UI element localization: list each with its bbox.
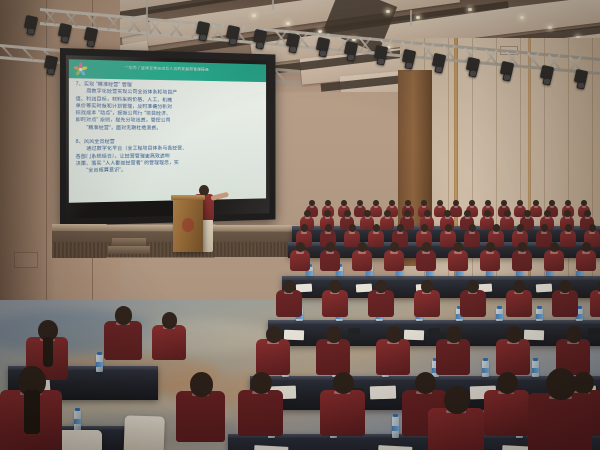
attendee-ponytail xyxy=(24,390,39,434)
stage-light xyxy=(253,30,267,50)
attendee-head xyxy=(559,280,571,293)
notepad xyxy=(378,445,413,450)
attendee-head xyxy=(390,242,399,252)
attendee-head xyxy=(325,200,330,206)
attendee xyxy=(480,242,500,271)
attendee xyxy=(256,326,290,375)
attendee-head xyxy=(484,210,491,217)
attendee-head xyxy=(581,200,586,206)
bottle-cap xyxy=(75,408,80,411)
attendee-head xyxy=(397,224,405,232)
attendee xyxy=(528,368,592,450)
attendee-head xyxy=(485,200,490,206)
attendee-head xyxy=(524,210,531,217)
slide-header-title: 一切为了篮球全体运动员人员的发展和管理提高 xyxy=(125,66,263,73)
attendee-head xyxy=(453,200,458,206)
attendee-head xyxy=(421,224,429,232)
attendee-head xyxy=(386,326,402,343)
attendee-shirt xyxy=(428,408,484,450)
bottle-label xyxy=(536,314,543,319)
attendee xyxy=(320,242,340,271)
stage-light xyxy=(286,34,300,54)
attendee-head xyxy=(437,200,442,206)
attendee-head xyxy=(329,280,341,293)
attendee-head xyxy=(389,200,394,206)
attendee-head xyxy=(565,200,570,206)
attendee xyxy=(416,242,436,271)
attendee xyxy=(322,280,348,317)
bottle-cap xyxy=(533,358,538,361)
attendee-head xyxy=(454,242,463,252)
attendee xyxy=(376,326,410,375)
attendee-head xyxy=(518,242,527,252)
attendee xyxy=(512,242,532,271)
attendee-head xyxy=(301,224,309,232)
attendee-head xyxy=(533,200,538,206)
attendee xyxy=(428,386,484,450)
attendee xyxy=(544,242,564,271)
attendee-head xyxy=(115,306,133,325)
truss-drop-rod xyxy=(146,0,148,40)
attendee xyxy=(484,372,529,436)
attendee-head xyxy=(296,242,305,252)
attendee-head xyxy=(546,368,576,400)
attendee-head xyxy=(504,210,511,217)
stage-light xyxy=(374,46,388,66)
attendee-head xyxy=(405,200,410,206)
notepad xyxy=(370,386,396,400)
bottle-label xyxy=(396,271,403,276)
bottle-label xyxy=(392,426,399,431)
attendee xyxy=(152,312,186,360)
attendee xyxy=(238,372,283,436)
attendee-head xyxy=(464,210,471,217)
attendee-head xyxy=(266,326,282,343)
attendee-head xyxy=(358,242,367,252)
bottle-label xyxy=(456,271,463,276)
stage-light xyxy=(432,54,446,74)
bottle-cap xyxy=(393,414,398,417)
conference-hall-photo: 一切为了篮球全体运动员人员的发展和管理提高 7、实现 "精准经营" 管理用数字化… xyxy=(0,0,600,450)
stage-light-glass xyxy=(257,43,263,48)
attendee-head xyxy=(517,200,522,206)
attendee-head xyxy=(162,312,178,329)
attendee-head xyxy=(446,326,462,343)
audience-area xyxy=(0,180,600,450)
attendee-head xyxy=(469,224,477,232)
attendee-head xyxy=(564,210,571,217)
stage-light-glass xyxy=(406,63,412,68)
stage-light-glass xyxy=(504,75,510,80)
bottle-cap xyxy=(483,358,488,361)
bottle-label xyxy=(96,362,103,367)
chair xyxy=(123,415,165,450)
bottle-label xyxy=(366,271,373,276)
slide-body-line: "全员核算意识"。 xyxy=(76,166,261,175)
attendee-head xyxy=(324,210,331,217)
attendee-head xyxy=(304,210,311,217)
bottle-label xyxy=(486,271,493,276)
attendee-head xyxy=(384,210,391,217)
attendee xyxy=(290,242,310,271)
bottle-label xyxy=(426,271,433,276)
bottle-label xyxy=(306,271,313,276)
stage-light-glass xyxy=(348,55,354,60)
attendee-head xyxy=(341,200,346,206)
stage-light-glass xyxy=(470,71,476,76)
notepad xyxy=(254,445,289,450)
bottle-cap xyxy=(97,352,102,355)
notepad xyxy=(536,284,552,293)
attendee-shirt xyxy=(104,321,142,360)
attendee-head xyxy=(501,200,506,206)
attendee-shirt xyxy=(552,290,578,317)
attendee-head xyxy=(517,224,525,232)
attendee-head xyxy=(251,372,272,394)
attendee xyxy=(316,326,350,375)
attendee-head xyxy=(486,242,495,252)
attendee-head xyxy=(349,224,357,232)
truss-drop-rod xyxy=(410,10,412,26)
attendee xyxy=(590,280,600,317)
attendee-head xyxy=(326,326,342,343)
attendee-head xyxy=(333,372,354,394)
stage-light xyxy=(402,50,416,70)
attendee xyxy=(352,242,372,271)
stage-light xyxy=(344,42,358,62)
bottle-label xyxy=(546,271,553,276)
attendee-shirt xyxy=(276,290,302,317)
stage-light xyxy=(226,26,240,46)
pinwheel-flower-logo xyxy=(73,61,89,77)
bottle-label xyxy=(336,271,343,276)
bottle-label xyxy=(496,314,503,319)
attendee-head xyxy=(513,280,525,293)
truss-drop-rod xyxy=(272,0,274,10)
attendee xyxy=(320,372,365,436)
bottle-cap xyxy=(537,306,542,309)
stage-light xyxy=(466,58,480,78)
slide-header-band: 一切为了篮球全体运动员人员的发展和管理提高 xyxy=(69,59,266,82)
water-bottle xyxy=(74,410,81,431)
attendee-shirt xyxy=(414,290,440,317)
attendee-shirt xyxy=(176,391,225,442)
attendee-head xyxy=(550,242,559,252)
attendee-shirt xyxy=(152,325,186,360)
stage-light-glass xyxy=(544,79,550,84)
bottle-cap xyxy=(577,306,582,309)
attendee-shirt xyxy=(436,339,470,374)
attendee xyxy=(436,326,470,375)
attendee-head xyxy=(344,210,351,217)
attendee-head xyxy=(566,326,582,343)
bottle-label xyxy=(516,271,523,276)
attendee-head xyxy=(565,224,573,232)
stage-light-glass xyxy=(436,67,442,72)
attendee-shirt xyxy=(496,339,530,374)
attendee-head xyxy=(325,224,333,232)
attendee-shirt xyxy=(460,290,486,317)
stage-light-glass xyxy=(230,39,236,44)
water-bottle xyxy=(392,416,399,438)
water-bottle xyxy=(96,354,103,372)
stage-light xyxy=(58,24,72,44)
bottle-label xyxy=(74,419,81,424)
attendee-head xyxy=(283,280,295,293)
attendee xyxy=(368,280,394,317)
slide-body-text: 7、实现 "精准经营" 管理用数字化经营实现公司全员体系和项目产值、利润目标，材… xyxy=(76,81,261,175)
attendee-shirt xyxy=(316,339,350,374)
attendee-shirt xyxy=(368,290,394,317)
attendee-head xyxy=(424,210,431,217)
attendee-shirt xyxy=(376,339,410,374)
attendee-shirt xyxy=(322,290,348,317)
attendee xyxy=(276,280,302,317)
attendee-shirt xyxy=(506,290,532,317)
attendee xyxy=(176,372,225,442)
attendee-head xyxy=(549,200,554,206)
bottle-cap xyxy=(497,306,502,309)
attendee-head xyxy=(582,242,591,252)
attendee-head xyxy=(190,372,213,397)
stage-light-glass xyxy=(48,69,54,74)
stage-light-glass xyxy=(290,47,296,52)
table-top-surface xyxy=(268,320,600,324)
attendee-shirt xyxy=(320,390,365,436)
attendee-shirt xyxy=(528,393,592,450)
attendee-head xyxy=(444,386,470,414)
stage-light xyxy=(24,16,38,36)
stage-light-glass xyxy=(578,83,584,88)
attendee-head xyxy=(373,200,378,206)
attendee-head xyxy=(584,210,591,217)
attendee xyxy=(460,280,486,317)
attendee-head xyxy=(544,210,551,217)
attendee-head xyxy=(497,372,518,394)
attendee-head xyxy=(493,224,501,232)
stage-light xyxy=(84,28,98,48)
attendee-head xyxy=(444,210,451,217)
attendee-shirt xyxy=(590,290,600,317)
attendee xyxy=(496,326,530,375)
attendee-head xyxy=(445,224,453,232)
attendee xyxy=(104,306,142,360)
attendee-head xyxy=(506,326,522,343)
attendee xyxy=(576,242,596,271)
bottle-label xyxy=(576,271,583,276)
attendee xyxy=(384,242,404,271)
stage-light xyxy=(44,56,58,76)
attendee-head xyxy=(375,280,387,293)
attendee-shirt xyxy=(256,339,290,374)
attendee xyxy=(0,366,62,450)
attendee-head xyxy=(326,242,335,252)
stage-light-glass xyxy=(88,41,94,46)
attendee-shirt xyxy=(484,390,529,436)
attendee-head xyxy=(541,224,549,232)
attendee-head xyxy=(357,200,362,206)
water-bottle xyxy=(496,308,503,321)
attendee-head xyxy=(309,200,314,206)
attendee-head xyxy=(421,200,426,206)
attendee-ponytail xyxy=(43,337,54,367)
attendee-head xyxy=(589,224,597,232)
attendee-head xyxy=(469,200,474,206)
attendee-head xyxy=(364,210,371,217)
stage-light xyxy=(196,22,210,42)
stage-light-glass xyxy=(200,35,206,40)
stage-light-glass xyxy=(62,37,68,42)
stage-light-glass xyxy=(320,51,326,56)
water-bottle xyxy=(536,308,543,321)
chair xyxy=(56,430,102,450)
attendee xyxy=(552,280,578,317)
attendee-head xyxy=(467,280,479,293)
attendee xyxy=(448,242,468,271)
attendee xyxy=(414,280,440,317)
attendee-head xyxy=(422,242,431,252)
attendee-head xyxy=(373,224,381,232)
attendee-head xyxy=(421,280,433,293)
stage-light xyxy=(540,66,554,86)
stage-light xyxy=(316,38,330,58)
stage-light xyxy=(574,70,588,90)
attendee-shirt xyxy=(238,390,283,436)
stage-light-glass xyxy=(28,29,34,34)
attendee xyxy=(506,280,532,317)
attendee-head xyxy=(404,210,411,217)
stage-light-glass xyxy=(378,59,384,64)
stage-light xyxy=(500,62,514,82)
